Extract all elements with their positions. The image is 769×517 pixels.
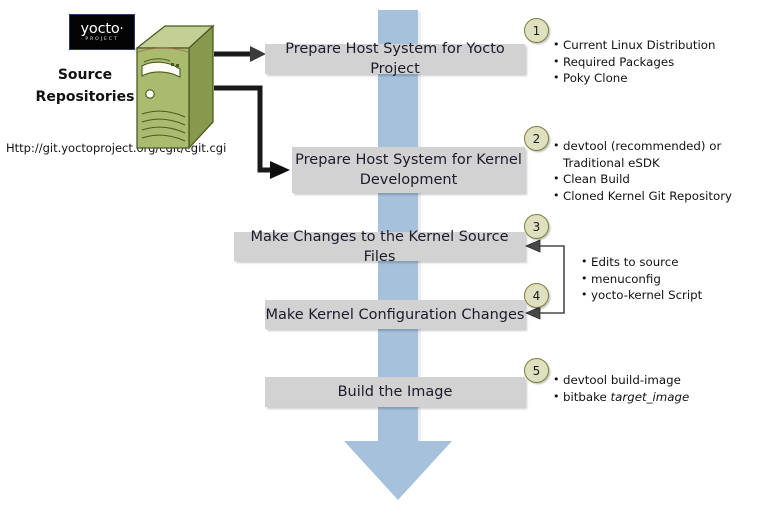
- yocto-project-logo: yocto· PROJECT: [69, 14, 135, 50]
- process-box-step5-label: Build the Image: [338, 382, 453, 402]
- step-badge-5-number: 5: [533, 364, 541, 378]
- process-box-step2-label: Prepare Host System for Kernel Developme…: [295, 150, 522, 190]
- bitbake-command-prefix: bitbake: [563, 390, 611, 404]
- list-item: devtool build-image: [563, 372, 752, 389]
- bullet-list-step1: Current Linux Distribution Required Pack…: [552, 37, 757, 87]
- step-badge-1-number: 1: [533, 24, 541, 38]
- step-badge-5: 5: [524, 358, 549, 383]
- list-item: Clean Build: [563, 171, 762, 188]
- bullet-list-step3-step4: Edits to source menuconfig yocto-kernel …: [580, 254, 750, 304]
- step-badge-3: 3: [524, 214, 549, 239]
- logo-subtext: PROJECT: [70, 37, 134, 43]
- source-repositories-label: Source Repositories: [26, 64, 144, 108]
- step-badge-4-number: 4: [533, 289, 541, 303]
- source-label-line1: Source: [26, 64, 144, 86]
- process-box-step3-label: Make Changes to the Kernel Source Files: [234, 227, 525, 267]
- step-badge-4: 4: [524, 283, 549, 308]
- process-box-step4[interactable]: Make Kernel Configuration Changes: [265, 300, 525, 329]
- bullet-list-step5: devtool build-image bitbake target_image: [552, 372, 752, 405]
- list-item: bitbake target_image: [563, 389, 752, 406]
- list-item: Poky Clone: [563, 70, 757, 87]
- process-box-step2-label-line2: Development: [360, 172, 458, 188]
- diagram-canvas: yocto· PROJECT Source Repositories Http:…: [0, 0, 769, 517]
- step-badge-2-number: 2: [533, 132, 541, 146]
- bullet-list-step2: devtool (recommended) or Traditional eSD…: [552, 138, 762, 204]
- list-item: yocto-kernel Script: [591, 287, 750, 304]
- list-item: Required Packages: [563, 54, 757, 71]
- server-icon: [133, 22, 217, 152]
- source-label-line2: Repositories: [26, 86, 144, 108]
- step-badge-2: 2: [524, 126, 549, 151]
- list-item: Cloned Kernel Git Repository: [563, 188, 762, 205]
- logo-dot: ·: [120, 22, 124, 37]
- process-box-step2[interactable]: Prepare Host System for Kernel Developme…: [292, 147, 525, 193]
- list-item: Edits to source: [591, 254, 750, 271]
- process-box-step3[interactable]: Make Changes to the Kernel Source Files: [234, 232, 525, 261]
- logo-word-text: yocto: [81, 21, 120, 37]
- flow-arrow-head: [344, 441, 452, 500]
- list-item: devtool (recommended) or Traditional eSD…: [563, 138, 762, 171]
- process-box-step4-label: Make Kernel Configuration Changes: [266, 305, 525, 325]
- connector-server-to-step2: [214, 76, 304, 186]
- connector-step3-step4-bracket: [522, 236, 574, 320]
- bitbake-command-target: target_image: [611, 390, 690, 404]
- step-badge-3-number: 3: [533, 220, 541, 234]
- process-box-step1[interactable]: Prepare Host System for Yocto Project: [265, 44, 525, 74]
- process-box-step5[interactable]: Build the Image: [265, 377, 525, 407]
- list-item: Current Linux Distribution: [563, 37, 757, 54]
- logo-wordmark: yocto·: [70, 15, 134, 37]
- step-badge-1: 1: [524, 18, 549, 43]
- process-box-step1-label: Prepare Host System for Yocto Project: [265, 39, 525, 79]
- process-box-step2-label-line1: Prepare Host System for Kernel: [295, 152, 522, 168]
- list-item: menuconfig: [591, 271, 750, 288]
